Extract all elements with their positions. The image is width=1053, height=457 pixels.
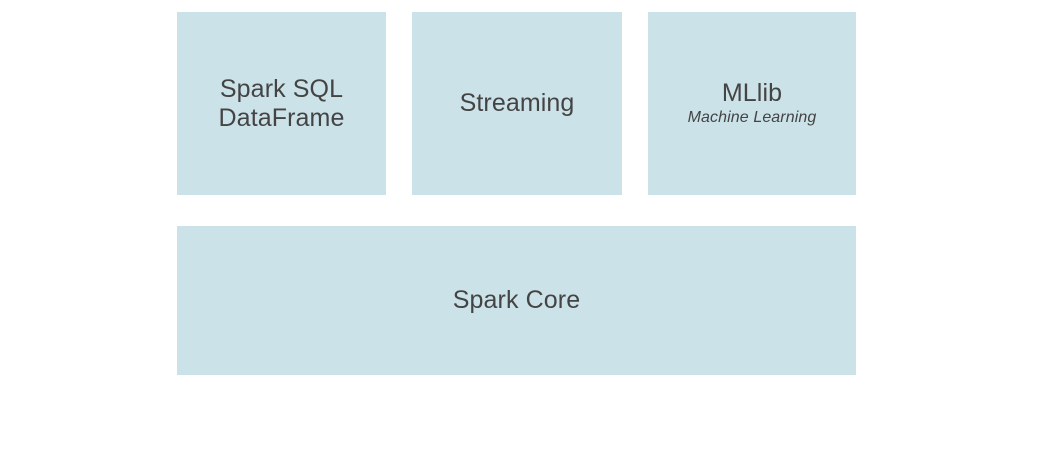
diagram-block-mllib-title: MLlib xyxy=(722,79,782,108)
diagram-block-streaming[interactable]: Streaming xyxy=(412,12,622,195)
diagram-block-spark-sql-title: Spark SQL DataFrame xyxy=(219,75,345,133)
spark-stack-diagram: Spark SQL DataFrame Streaming MLlib Mach… xyxy=(0,0,1053,457)
diagram-block-mllib-subtitle: Machine Learning xyxy=(688,109,817,128)
diagram-block-mllib[interactable]: MLlib Machine Learning xyxy=(648,12,856,195)
diagram-block-spark-sql[interactable]: Spark SQL DataFrame xyxy=(177,12,386,195)
diagram-block-spark-core[interactable]: Spark Core xyxy=(177,226,856,375)
diagram-block-streaming-title: Streaming xyxy=(460,89,575,118)
diagram-block-spark-core-title: Spark Core xyxy=(453,286,580,315)
